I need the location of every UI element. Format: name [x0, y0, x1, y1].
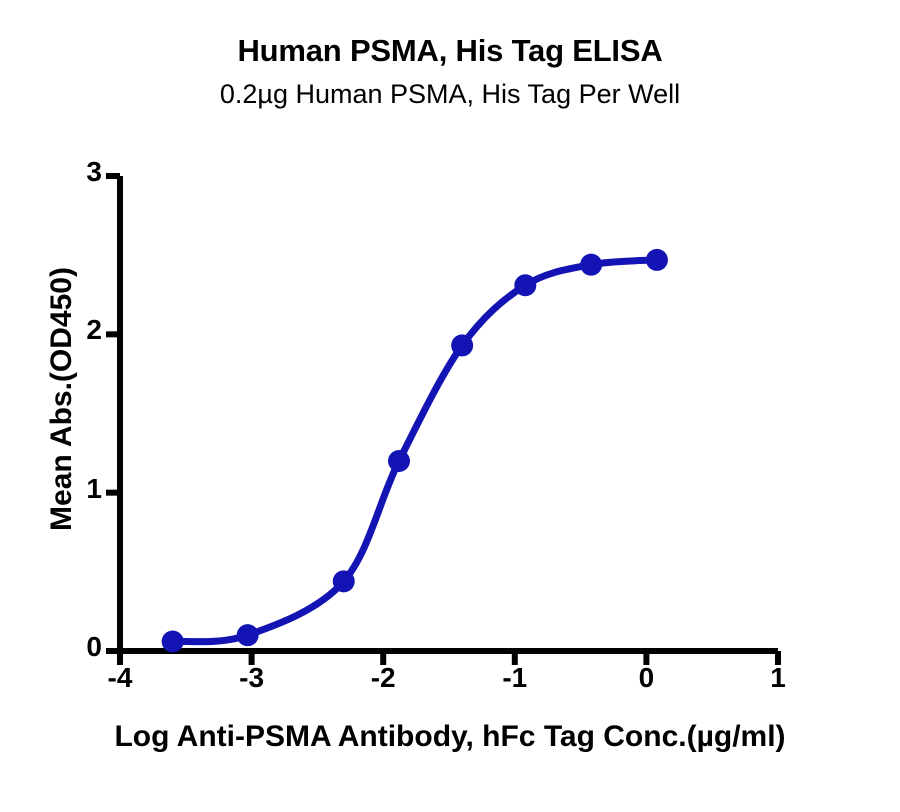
data-point-marker	[580, 254, 602, 276]
series-line	[173, 260, 657, 642]
y-tick-label: 0	[62, 631, 102, 663]
x-tick-label: -2	[353, 662, 413, 694]
x-axis-label: Log Anti-PSMA Antibody, hFc Tag Conc.(µg…	[0, 720, 900, 754]
y-axis-label: Mean Abs.(OD450)	[45, 189, 79, 609]
data-point-marker	[162, 631, 184, 653]
chart-figure: Human PSMA, His Tag ELISA 0.2µg Human PS…	[0, 0, 900, 807]
x-tick-label: 1	[748, 662, 808, 694]
y-tick-label: 3	[62, 156, 102, 188]
data-point-marker	[237, 624, 259, 646]
x-tick-label: 0	[616, 662, 676, 694]
data-series	[162, 249, 668, 653]
x-tick-label: -1	[485, 662, 545, 694]
data-point-marker	[388, 450, 410, 472]
x-tick-label: -4	[90, 662, 150, 694]
data-point-marker	[514, 274, 536, 296]
plot-area: -4-3-2-101 0123 Mean Abs.(OD450) Log Ant…	[0, 0, 900, 807]
data-point-marker	[333, 570, 355, 592]
axes	[106, 176, 778, 665]
data-point-marker	[646, 249, 668, 271]
x-tick-label: -3	[222, 662, 282, 694]
data-point-marker	[451, 334, 473, 356]
